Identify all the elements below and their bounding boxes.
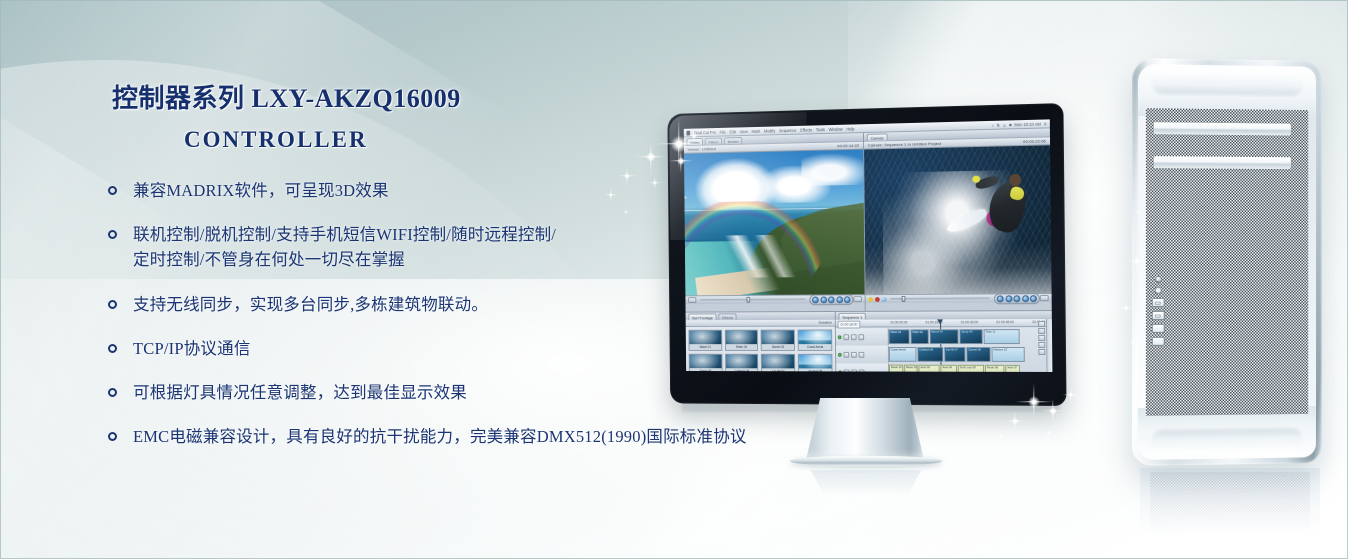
canvas-panel: Canvas Canvas: Sequence 1 in Untitled Pr… [863, 128, 1052, 310]
list-item-line2: 定时控制/不管身在何处一切尽在掌握 [133, 247, 556, 272]
list-item[interactable]: Spray 05 [689, 354, 723, 372]
list-item-label: EMC电磁兼容设计，具有良好的抗干扰能力，完美兼容DMX512(1990)国际标… [133, 424, 747, 449]
promo-banner: 控制器系列 LXY-AKZQ16009 CONTROLLER 兼容MADRIX软… [0, 0, 1348, 559]
menu-item-final-cut-pro[interactable]: Final Cut Pro [694, 129, 716, 134]
viewer-title: Viewer: Untitled [688, 146, 716, 151]
list-item-label: 兼容MADRIX软件，可呈现3D效果 [133, 178, 389, 203]
next-edit-button[interactable] [1022, 295, 1029, 302]
prev-edit-button[interactable] [820, 296, 827, 303]
transport-controls[interactable] [994, 293, 1040, 304]
track-clips[interactable]: Music 01 Music 02 Amb 03 Amb 04 Surf Loo… [889, 364, 1052, 372]
battery-icon[interactable]: ■ [1009, 122, 1012, 127]
track-lock-icon[interactable] [844, 351, 850, 357]
zoom-tool-icon[interactable] [1038, 335, 1045, 341]
optical-drive-slot-2[interactable] [1154, 156, 1291, 169]
perforated-mesh-panel [1150, 472, 1310, 532]
surfer-head [1009, 174, 1021, 186]
hand-tool-icon[interactable] [1038, 342, 1045, 348]
tab-canvas[interactable]: Canvas [867, 133, 887, 140]
timeline-clip[interactable]: Rider 02 [910, 329, 928, 344]
canvas-scrubber[interactable] [890, 297, 990, 301]
record-status-icon [875, 297, 880, 302]
list-item[interactable]: Sunset 08 [798, 354, 832, 372]
spotlight-icon[interactable]: ⚲ [1044, 121, 1047, 126]
timeline-tracks: Wave 01 Rider 02 Barrel 03 Spray 05 Tube… [836, 327, 1053, 372]
clip-name: Barrel 03 [762, 344, 794, 350]
ruler-mark: 01:00:45:00 [996, 320, 1014, 324]
viewer-panel: Video Filters Motion Viewer: Untitled 00… [684, 133, 865, 312]
viewer-view-options-button[interactable] [853, 296, 862, 302]
ruler-mark: 01:00:00:00 [890, 321, 907, 325]
photo-beach [684, 150, 865, 296]
canvas-footer [866, 293, 1052, 303]
canvas-timecode[interactable]: 00:00:22:06 [1023, 138, 1046, 144]
tab-surf-footage[interactable]: Surf Footage [688, 313, 716, 320]
clip-name: Cutback 06 [726, 368, 758, 372]
track-lock-icon[interactable] [843, 334, 849, 340]
mark-in-button[interactable] [997, 295, 1004, 302]
viewer-row: Video Filters Motion Viewer: Untitled 00… [684, 128, 1052, 311]
scrubber-knob[interactable] [902, 296, 906, 302]
canvas-view-options-button[interactable] [1040, 295, 1049, 301]
clip-name: Rider 02 [726, 344, 758, 350]
list-item[interactable]: Lip Hit 07 [761, 354, 795, 372]
top-handle [1150, 70, 1305, 98]
timeline-clip[interactable]: Barrel 03 [929, 329, 958, 344]
surfer-wave-photo [864, 145, 1051, 294]
razor-tool-icon[interactable] [1038, 328, 1045, 334]
tower-front-panel [1138, 64, 1316, 460]
title-main: 控制器系列 LXY-AKZQ16009 [112, 83, 612, 115]
sparkle-star [1004, 410, 1026, 432]
monitor-stand-base [790, 456, 942, 466]
clip-name: Lip Hit 07 [762, 368, 794, 372]
timeline-clip[interactable]: Cutback 06 [917, 347, 943, 362]
list-item[interactable]: Wave 01 [688, 330, 722, 351]
tab-filters[interactable]: Filters [705, 137, 722, 144]
timeline-clip[interactable]: Music 01 [889, 365, 904, 372]
timeline-clip[interactable]: Amb 03 [918, 365, 939, 372]
browser-column-duration[interactable]: Duration [819, 321, 832, 325]
timeline-panel[interactable]: Sequence 1 01:00:18:00 01:00:00:00 01:00… [836, 311, 1053, 372]
timeline-clip[interactable]: Music 02 [904, 365, 917, 372]
tool-palette[interactable] [1038, 321, 1045, 355]
mac-pro-tower [1132, 58, 1322, 466]
menu-item-tools[interactable]: Tools [816, 127, 825, 132]
menu-bar-spacer [858, 125, 988, 128]
menu-item-sequence[interactable]: Sequence [779, 127, 797, 132]
viewer-zoom-button[interactable] [688, 297, 696, 303]
list-item-label: 可根据灯具情况任意调整，达到最佳显示效果 [133, 380, 467, 405]
tower-body [1132, 58, 1322, 466]
track-target-icon[interactable] [851, 334, 857, 340]
menu-item-mark[interactable]: Mark [752, 128, 761, 133]
transport-controls[interactable] [809, 294, 853, 305]
track-visibility-icon[interactable] [838, 335, 842, 339]
timeline-timecode[interactable]: 01:00:18:00 [838, 321, 861, 329]
ring-bullet-icon [108, 186, 117, 195]
timeline-clip[interactable]: Music 06 [984, 365, 1004, 372]
list-item-label: 支持无线同步，实现多台同步,多栋建筑物联动。 [133, 292, 488, 317]
volume-icon[interactable]: ♪ [992, 122, 994, 127]
track-gutter[interactable] [836, 328, 889, 345]
sparkle-star [1080, 404, 1094, 418]
track-gutter[interactable] [836, 346, 889, 363]
scrubber-knob[interactable] [746, 297, 750, 303]
tab-video[interactable]: Video [687, 138, 704, 145]
port-column[interactable] [1150, 276, 1166, 346]
tower-floor-reflection [1140, 468, 1320, 556]
sparkle-dot [1020, 452, 1024, 456]
mark-out-button[interactable] [844, 296, 851, 303]
tab-effects[interactable]: Effects [718, 313, 736, 320]
ring-bullet-icon [108, 388, 117, 397]
list-item[interactable]: Barrel 03 [761, 330, 795, 351]
sparkle-dot [1046, 430, 1052, 436]
menu-item-window[interactable]: Window [829, 126, 843, 131]
timeline-clip[interactable]: Tube 11 [983, 329, 1019, 344]
tab-motion[interactable]: Motion [724, 137, 742, 144]
browser-thumbnail-grid[interactable]: Wave 01 Rider 02 Barrel 03 Coast Aerial … [686, 327, 836, 372]
ring-bullet-icon [108, 432, 117, 441]
timeline-vertical-scrollbar[interactable] [1046, 319, 1052, 372]
firewire-400-port-icon[interactable] [1151, 337, 1164, 346]
menu-bar-clock[interactable]: Mon 10:10 AM [1014, 121, 1041, 127]
menu-bar-status-items[interactable]: ♪ ⇅ △ ■ Mon 10:10 AM ⚲ [992, 121, 1047, 127]
usb-port-icon[interactable] [1151, 311, 1164, 320]
timeline-clip[interactable]: Sunset 08 [966, 347, 991, 362]
menu-item-effects[interactable]: Effects [800, 127, 812, 132]
browser-panel: Surf Footage Effects Duration Wave 01 Ri… [686, 312, 837, 372]
optical-drive-slot-1[interactable] [1154, 122, 1291, 135]
track-auto-select-icon[interactable] [858, 334, 864, 340]
mark-out-button[interactable] [1030, 295, 1037, 302]
clip-name: Coast Aerial [799, 344, 831, 350]
ring-bullet-icon [108, 230, 117, 239]
next-edit-button[interactable] [836, 296, 843, 303]
play-button[interactable] [828, 296, 835, 303]
track-visibility-icon[interactable] [838, 352, 842, 356]
menu-item-file[interactable]: File [720, 129, 726, 134]
track-lock-icon[interactable] [844, 369, 850, 372]
sparkle-dot [1058, 486, 1061, 489]
list-item-label: TCP/IP协议通信 [133, 336, 251, 361]
viewer-scrubber[interactable] [700, 298, 806, 301]
usb-port-icon[interactable] [1151, 298, 1164, 307]
sparkle-dot [968, 462, 972, 466]
sparkle-dot [1108, 470, 1112, 474]
list-item[interactable]: Cutback 06 [725, 354, 759, 372]
menu-item-help[interactable]: Help [846, 126, 854, 131]
track-target-icon[interactable] [851, 351, 857, 357]
viewer-timecode[interactable]: 00:00:14:22 [837, 143, 859, 148]
render-status-icon [868, 297, 873, 302]
lower-row: Surf Footage Effects Duration Wave 01 Ri… [686, 310, 1053, 372]
track-gutter[interactable] [836, 364, 889, 372]
monitor-screen: Final Cut Pro File Edit View Mark Modify… [684, 119, 1053, 372]
prev-edit-button[interactable] [1005, 295, 1012, 302]
track-auto-select-icon[interactable] [859, 351, 865, 357]
bottom-handle [1150, 426, 1305, 454]
clip-name: Sunset 08 [799, 368, 831, 372]
firewire-800-port-icon[interactable] [1151, 324, 1164, 333]
list-item[interactable]: Coast Aerial [798, 330, 832, 351]
apple-logo-icon[interactable] [686, 130, 690, 135]
sparkle-dot [998, 434, 1003, 439]
firewire-port-icon[interactable] [1154, 276, 1161, 283]
sparkle-dot [1072, 448, 1076, 452]
monitor-stand-neck [806, 398, 924, 460]
track-audible-icon[interactable] [838, 370, 842, 372]
title-sub: CONTROLLER [184, 125, 612, 155]
canvas-status-dots [868, 297, 886, 302]
timeline-clip[interactable]: Coast Aerial [889, 347, 916, 362]
menu-item-edit[interactable]: Edit [729, 129, 736, 134]
mark-in-button[interactable] [812, 296, 819, 303]
track-clips[interactable]: Coast Aerial Cutback 06 Lip Hit 07 Sunse… [889, 346, 1053, 363]
bluetooth-icon[interactable]: ⇅ [997, 122, 1000, 127]
timeline-track[interactable]: Music 01 Music 02 Amb 03 Amb 04 Surf Loo… [836, 364, 1052, 372]
monitor-bezel: Final Cut Pro File Edit View Mark Modify… [667, 103, 1066, 406]
list-item-label: 联机控制/脱机控制/支持手机短信WIFI控制/随时远程控制/ 定时控制/不管身在… [133, 222, 556, 272]
timeline-track[interactable]: Coast Aerial Cutback 06 Lip Hit 07 Sunse… [836, 346, 1052, 363]
list-item: EMC电磁兼容设计，具有良好的抗干扰能力，完美兼容DMX512(1990)国际标… [108, 424, 848, 449]
clip-name: Wave 01 [690, 344, 722, 350]
ruler-mark: 01:00:30:00 [961, 320, 978, 324]
timeline-clip[interactable]: Amb 07 [1005, 365, 1020, 372]
viewer-footer [685, 294, 864, 304]
list-item[interactable]: Rider 02 [725, 330, 759, 351]
timeline-clip[interactable]: Wave 01 [889, 329, 910, 344]
surfer-glove [972, 176, 980, 183]
timeline-clip[interactable]: Lip Hit 07 [944, 347, 965, 362]
timeline-clip[interactable]: Amb 04 [940, 365, 956, 372]
photo-surf [864, 145, 1051, 294]
aerial-beach-rainbow-photo [684, 150, 865, 296]
ring-bullet-icon [108, 300, 117, 309]
cinema-display: Final Cut Pro File Edit View Mark Modify… [667, 103, 1066, 406]
timeline-clip[interactable]: Surf Loop 05 [957, 365, 983, 372]
headphone-port-icon[interactable] [1154, 287, 1161, 294]
canvas-title: Canvas: Sequence 1 in Untitled Project [868, 141, 942, 148]
clip-name: Spray 05 [690, 368, 722, 372]
sparkle-dot [1098, 426, 1103, 431]
track-auto-select-icon[interactable] [859, 369, 865, 372]
timeline-clip[interactable]: Spray 05 [959, 329, 982, 344]
water-spray [865, 243, 1052, 294]
perforated-mesh-panel [1146, 108, 1308, 416]
page-title: 控制器系列 LXY-AKZQ16009 CONTROLLER [112, 83, 612, 155]
track-clips[interactable]: Wave 01 Rider 02 Barrel 03 Spray 05 Tube… [889, 328, 1053, 345]
menu-item-modify[interactable]: Modify [764, 128, 775, 133]
timeline-ruler-marks: 01:00:00:00 01:00:15:00 01:00:30:00 01:0… [890, 320, 1050, 324]
timeline-track[interactable]: Wave 01 Rider 02 Barrel 03 Spray 05 Tube… [836, 328, 1052, 345]
cloud [801, 152, 864, 185]
timeline-ruler[interactable]: 01:00:18:00 01:00:00:00 01:00:15:00 01:0… [836, 319, 1052, 328]
airport-icon[interactable]: △ [1003, 122, 1006, 127]
menu-item-view[interactable]: View [740, 129, 748, 134]
pen-tool-icon[interactable] [1038, 349, 1045, 355]
play-button[interactable] [1013, 295, 1020, 302]
ring-bullet-icon [108, 344, 117, 353]
list-item-line1: 联机控制/脱机控制/支持手机短信WIFI控制/随时远程控制/ [133, 225, 556, 244]
timeline-clip[interactable]: Horizon 12 [992, 347, 1025, 362]
track-target-icon[interactable] [851, 369, 857, 372]
selection-tool-icon[interactable] [1038, 321, 1045, 327]
info-status-icon [882, 297, 887, 302]
